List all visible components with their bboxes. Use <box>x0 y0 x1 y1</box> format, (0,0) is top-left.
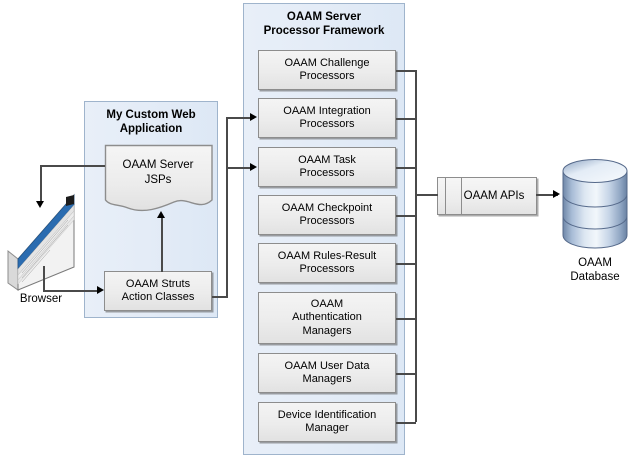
item-0-line2: Processors <box>296 70 357 84</box>
item-7-line1: Device Identification <box>275 409 379 423</box>
web-app-title-line2: Application <box>84 122 218 136</box>
item-2-line2: Processors <box>296 167 357 181</box>
oaam-user-data-managers: OAAM User Data Managers <box>258 353 396 393</box>
browser-label: Browser <box>0 292 82 306</box>
oaam-rules-result-processors: OAAM Rules-Result Processors <box>258 243 396 283</box>
database-label-line1: OAAM <box>555 256 635 270</box>
oaam-task-processors: OAAM Task Processors <box>258 147 396 187</box>
item-5-line3: Managers <box>300 325 355 339</box>
item-1-line2: Processors <box>296 118 357 132</box>
browser-icon <box>6 183 84 293</box>
stub-task <box>396 167 416 169</box>
connector-jsps-to-browser-h <box>40 165 105 167</box>
item-6-line1: OAAM User Data <box>282 360 373 374</box>
component-tab-right <box>461 177 462 215</box>
item-2-line1: OAAM Task <box>295 154 359 168</box>
stub-integration <box>396 118 416 120</box>
stub-checkpoint <box>396 215 416 217</box>
arrow-into-browser <box>36 201 44 208</box>
connector-struts-to-jsps-v <box>161 217 163 272</box>
web-app-title-line1: My Custom Web <box>84 108 218 122</box>
oaam-apis-label: OAAM APIs <box>464 190 525 202</box>
connector-browser-to-struts-v <box>43 266 45 291</box>
item-0-line1: OAAM Challenge <box>282 57 373 71</box>
framework-title-line2: Processor Framework <box>243 24 405 38</box>
connector-jsps-to-browser-v <box>40 165 42 203</box>
struts-label-line1: OAAM Struts <box>123 278 193 292</box>
jsps-label-line1: OAAM Server <box>104 158 212 173</box>
connector-right-bus-v <box>415 70 417 422</box>
oaam-challenge-processors: OAAM Challenge Processors <box>258 50 396 90</box>
oaam-integration-processors: OAAM Integration Processors <box>258 98 396 138</box>
oaam-checkpoint-processors: OAAM Checkpoint Processors <box>258 195 396 235</box>
jsps-label-line2: JSPs <box>104 173 212 188</box>
device-identification-manager: Device Identification Manager <box>258 402 396 442</box>
stub-rules-result <box>396 263 416 265</box>
arrow-into-jsps <box>157 211 165 218</box>
arrow-into-integration-processors <box>250 113 257 121</box>
stub-device-identification <box>396 422 416 424</box>
database-label-line2: Database <box>555 270 635 284</box>
arrow-into-database <box>553 190 560 198</box>
stub-authentication <box>396 318 416 320</box>
oaam-server-jsps-shape: OAAM Server JSPs <box>104 144 212 214</box>
oaam-database-cylinder <box>560 158 630 252</box>
item-5-line2: Authentication <box>289 311 365 325</box>
stub-challenge <box>396 70 416 72</box>
oaam-apis-component: OAAM APIs <box>437 177 537 215</box>
connector-left-bus-v <box>226 117 228 297</box>
item-3-line1: OAAM Checkpoint <box>279 202 375 216</box>
arrow-into-task-processors <box>250 163 257 171</box>
stub-user-data <box>396 373 416 375</box>
connector-bus-to-apis <box>415 194 438 196</box>
framework-title-line1: OAAM Server <box>243 10 405 24</box>
item-1-line1: OAAM Integration <box>280 105 373 119</box>
struts-label-line2: Action Classes <box>119 291 198 305</box>
diagram-canvas: Browser My Custom Web Application OAAM S… <box>0 0 635 461</box>
item-5-line1: OAAM <box>308 298 346 312</box>
oaam-struts-action-classes-box: OAAM Struts Action Classes <box>104 271 212 311</box>
item-6-line2: Managers <box>300 373 355 387</box>
item-4-line1: OAAM Rules-Result <box>275 250 379 264</box>
item-7-line2: Manager <box>302 422 351 436</box>
arrow-into-struts <box>97 286 104 294</box>
item-4-line2: Processors <box>296 263 357 277</box>
item-3-line2: Processors <box>296 215 357 229</box>
connector-browser-to-struts-h <box>43 290 100 292</box>
oaam-authentication-managers: OAAM Authentication Managers <box>258 292 396 344</box>
component-tab-left <box>445 177 446 215</box>
